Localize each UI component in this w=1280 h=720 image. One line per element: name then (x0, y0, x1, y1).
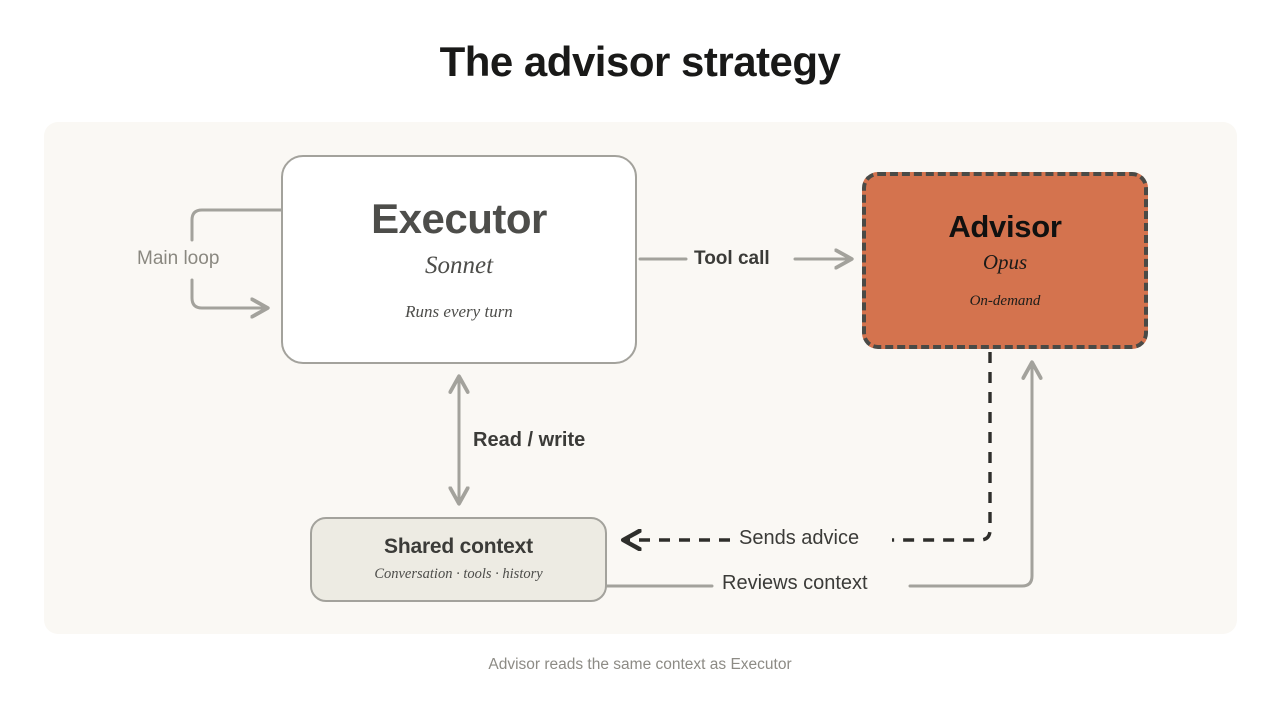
node-advisor-note: On-demand (970, 293, 1041, 310)
diagram-root: The advisor strategy (0, 0, 1280, 720)
page-title: The advisor strategy (0, 38, 1280, 86)
node-executor-title: Executor (371, 198, 547, 240)
node-advisor-title: Advisor (948, 211, 1061, 242)
edge-label-read-write: Read / write (473, 429, 585, 452)
node-executor[interactable]: Executor Sonnet Runs every turn (281, 155, 637, 364)
node-shared-context[interactable]: Shared context Conversation · tools · hi… (310, 517, 607, 602)
diagram-caption: Advisor reads the same context as Execut… (0, 656, 1280, 674)
edge-label-main-loop: Main loop (137, 248, 219, 270)
node-shared-context-subtitle: Conversation · tools · history (374, 566, 542, 583)
node-shared-context-title: Shared context (384, 536, 533, 557)
node-executor-subtitle: Sonnet (425, 252, 493, 280)
node-advisor[interactable]: Advisor Opus On-demand (862, 172, 1148, 349)
edge-label-sends-advice: Sends advice (739, 527, 859, 550)
node-executor-note: Runs every turn (405, 302, 513, 322)
edge-label-reviews-context: Reviews context (722, 572, 868, 595)
node-advisor-subtitle: Opus (983, 250, 1027, 275)
edge-label-tool-call: Tool call (694, 248, 770, 270)
